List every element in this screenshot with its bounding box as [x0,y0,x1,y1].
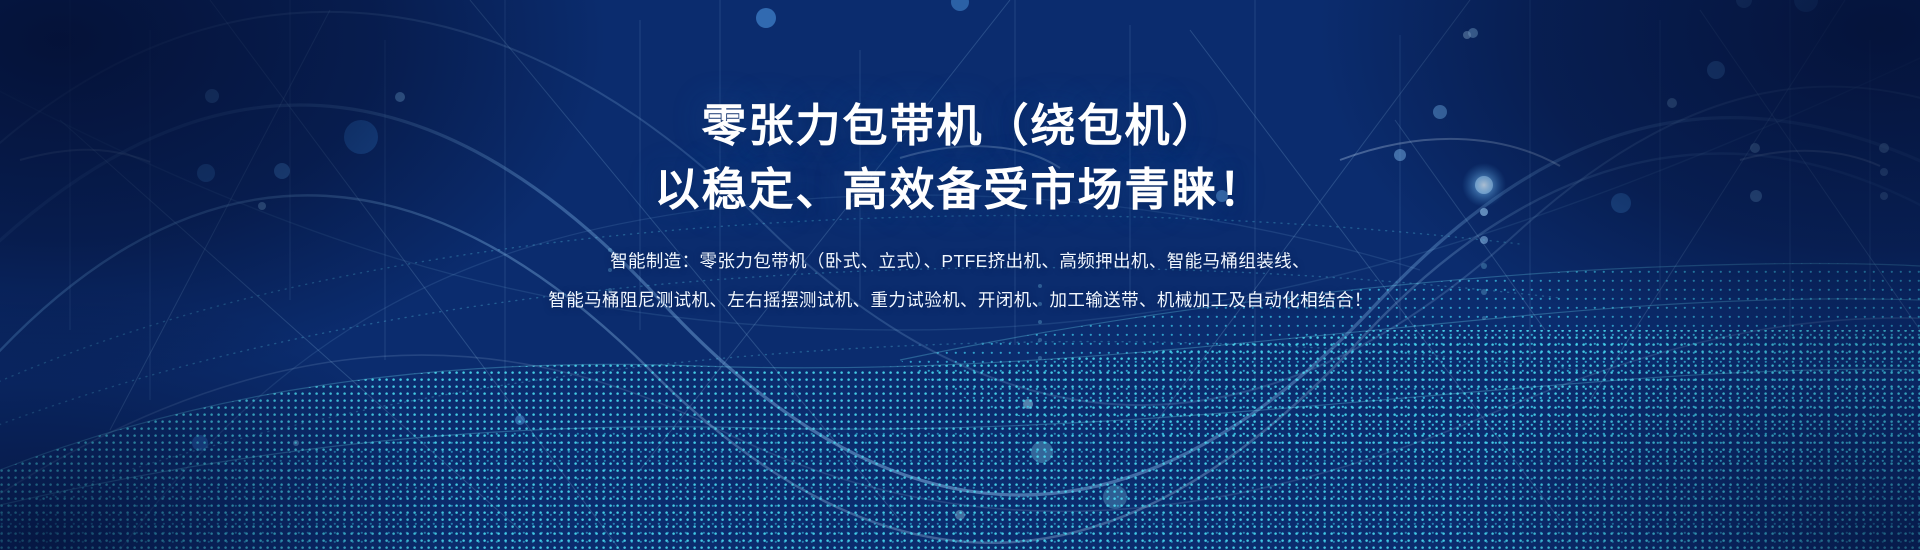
banner-content: 零张力包带机（绕包机） 以稳定、高效备受市场青睐！ 智能制造：零张力包带机（卧式… [0,0,1920,550]
subtitle-line-2: 智能马桶阻尼测试机、左右摇摆测试机、重力试验机、开闭机、加工输送带、机械加工及自… [548,281,1371,320]
banner-subtitle: 智能制造：零张力包带机（卧式、立式）、PTFE挤出机、高频押出机、智能马桶组装线… [548,242,1371,321]
promo-banner: 零张力包带机（绕包机） 以稳定、高效备受市场青睐！ 智能制造：零张力包带机（卧式… [0,0,1920,550]
subtitle-line-1: 智能制造：零张力包带机（卧式、立式）、PTFE挤出机、高频押出机、智能马桶组装线… [548,242,1371,281]
headline-line-2: 以稳定、高效备受市场青睐！ [654,160,1265,220]
banner-headline: 零张力包带机（绕包机） 以稳定、高效备受市场青睐！ [654,96,1265,220]
headline-line-1: 零张力包带机（绕包机） [701,100,1218,151]
